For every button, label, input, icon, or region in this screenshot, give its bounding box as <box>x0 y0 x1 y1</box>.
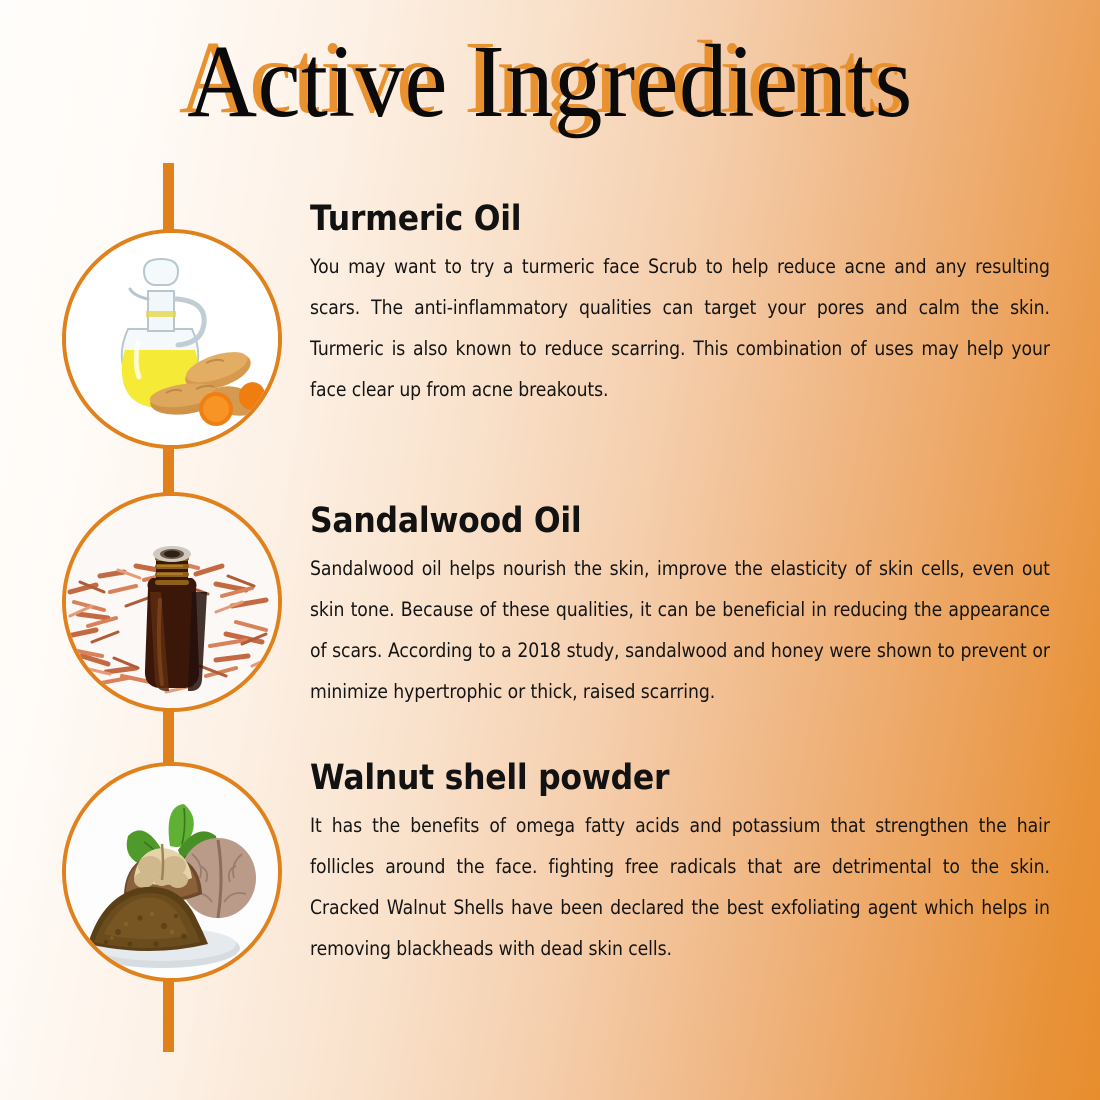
turmeric-oil-photo <box>62 229 282 449</box>
section-sandalwood-oil: Sandalwood Oil Sandalwood oil helps nour… <box>310 500 1050 712</box>
section-body-turmeric-oil: You may want to try a turmeric face Scru… <box>310 246 1050 410</box>
walnut-shell-powder-photo <box>62 762 282 982</box>
section-body-sandalwood-oil: Sandalwood oil helps nourish the skin, i… <box>310 548 1050 712</box>
section-turmeric-oil: Turmeric Oil You may want to try a turme… <box>310 198 1050 410</box>
section-walnut-shell-powder: Walnut shell powder It has the benefits … <box>310 757 1050 969</box>
page-title-text: Active Ingredients <box>187 24 912 139</box>
section-heading-turmeric-oil: Turmeric Oil <box>310 198 976 240</box>
page-title: Active Ingredients Active Ingredients <box>0 22 1100 152</box>
section-body-walnut-shell-powder: It has the benefits of omega fatty acids… <box>310 805 1050 969</box>
section-heading-sandalwood-oil: Sandalwood Oil <box>310 500 976 542</box>
sandalwood-oil-photo <box>62 492 282 712</box>
section-heading-walnut-shell-powder: Walnut shell powder <box>310 757 976 799</box>
